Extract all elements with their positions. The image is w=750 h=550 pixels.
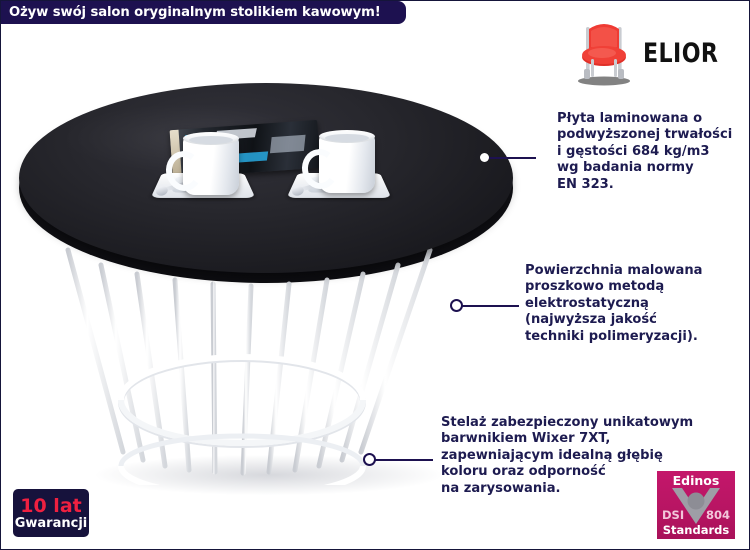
annotation-line: zapewniającym idealną głębię (441, 448, 747, 464)
annotation-line: podwyższonej trwałości (557, 127, 747, 143)
callout-marker-frame-dye (363, 453, 376, 466)
annotation-line: Płyta laminowana o (557, 111, 747, 127)
callout-marker-tabletop-material (480, 153, 489, 162)
brand-name: ELIOR (643, 38, 718, 69)
annotation-line: proszkowo metodą (525, 279, 741, 295)
annotation-line: techniki polimeryzacji). (525, 329, 741, 345)
annotation-tabletop-material: Płyta laminowana o podwyższonej trwałośc… (557, 111, 747, 193)
callout-marker-surface-coating (450, 299, 463, 312)
callout-line-frame-dye (375, 459, 433, 461)
certification-badge: Edinos DSI 804 Standards (657, 471, 735, 539)
certification-code-left: DSI (662, 508, 684, 522)
cup-right (319, 135, 375, 193)
warranty-years: 10 lat (20, 496, 81, 516)
certification-code-right: 804 (706, 508, 730, 522)
annotation-line: (najwyższa jakość (525, 312, 741, 328)
annotation-surface-coating: Powierzchnia malowana proszkowo metodą e… (525, 263, 741, 345)
annotation-line: i gęstości 684 kg/m3 (557, 144, 747, 160)
annotation-line: wg badania normy (557, 160, 747, 176)
cup-left (183, 137, 239, 195)
annotation-line: EN 323. (557, 177, 747, 193)
callout-line-tabletop-material (489, 157, 536, 159)
warranty-badge: 10 lat Gwarancji (13, 489, 89, 537)
annotation-line: Stelaż zabezpieczony unikatowym (441, 415, 747, 431)
warranty-label: Gwarancji (15, 516, 88, 531)
product-infographic: Ożyw swój salon oryginalnym stolikiem ka… (0, 0, 750, 550)
brand-logo: ELIOR (545, 17, 735, 89)
annotation-line: Powierzchnia malowana (525, 263, 741, 279)
annotation-line: barwnikiem Wixer 7XT, (441, 431, 747, 447)
red-chair-icon (573, 19, 635, 87)
certification-subtitle: Standards (657, 523, 735, 537)
header-title: Ożyw swój salon oryginalnym stolikiem ka… (9, 5, 381, 20)
callout-line-surface-coating (462, 305, 519, 307)
tabletop (19, 83, 513, 273)
header-banner: Ożyw swój salon oryginalnym stolikiem ka… (0, 1, 406, 24)
annotation-line: elektrostatyczną (525, 296, 741, 312)
